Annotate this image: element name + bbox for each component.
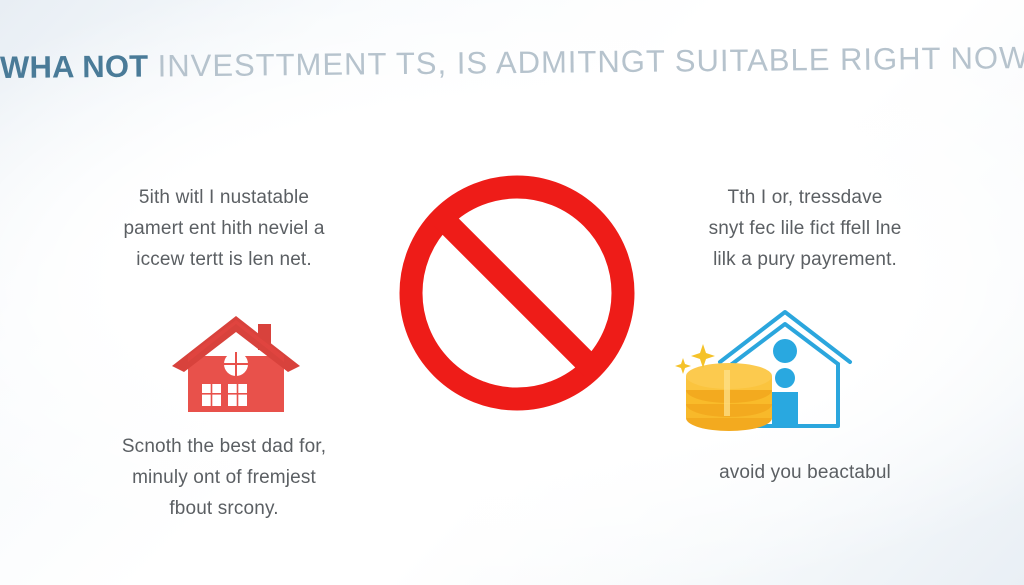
- paragraph-top-left: 5ith witl I nustatable pamert ent hith n…: [74, 183, 374, 275]
- paragraph-line: iccew tertt is len net.: [74, 245, 374, 276]
- person-head: [773, 339, 797, 363]
- house-with-coins-icon: [672, 300, 868, 432]
- person-mid: [775, 368, 795, 388]
- paragraph-top-right: Tth I or, tressdave snyt fec lile fict f…: [655, 183, 955, 275]
- prohibition-sign-icon: [394, 170, 640, 416]
- paragraph-line: fbout srcony.: [74, 494, 374, 525]
- red-house-icon: [166, 310, 306, 412]
- person-body: [772, 392, 798, 426]
- paragraph-line: minuly ont of fremjest: [74, 463, 374, 494]
- paragraph-line: snyt fec lile fict ffell lne: [655, 214, 955, 245]
- paragraph-line: Tth I or, tressdave: [655, 183, 955, 214]
- page-title-rest: INVESTTMENT TS, IS ADMITNGT SUITABLE RIG…: [158, 40, 1024, 83]
- paragraph-line: 5ith witl I nustatable: [74, 183, 374, 214]
- page-title: WHA NOT INVESTTMENT TS, IS ADMITNGT SUIT…: [0, 46, 1024, 80]
- paragraph-bottom-right: avoid you beactabul: [655, 458, 955, 489]
- paragraph-line: pamert ent hith neviel a: [74, 214, 374, 245]
- paragraph-line: Scnoth the best dad for,: [74, 432, 374, 463]
- coin-stack: [686, 363, 772, 431]
- paragraph-line: lilk a pury payrement.: [655, 245, 955, 276]
- paragraph-bottom-left: Scnoth the best dad for, minuly ont of f…: [74, 432, 374, 524]
- paragraph-line: avoid you beactabul: [655, 458, 955, 489]
- infographic-canvas: WHA NOT INVESTTMENT TS, IS ADMITNGT SUIT…: [0, 0, 1024, 585]
- page-title-emphasis: WHA NOT: [0, 49, 149, 85]
